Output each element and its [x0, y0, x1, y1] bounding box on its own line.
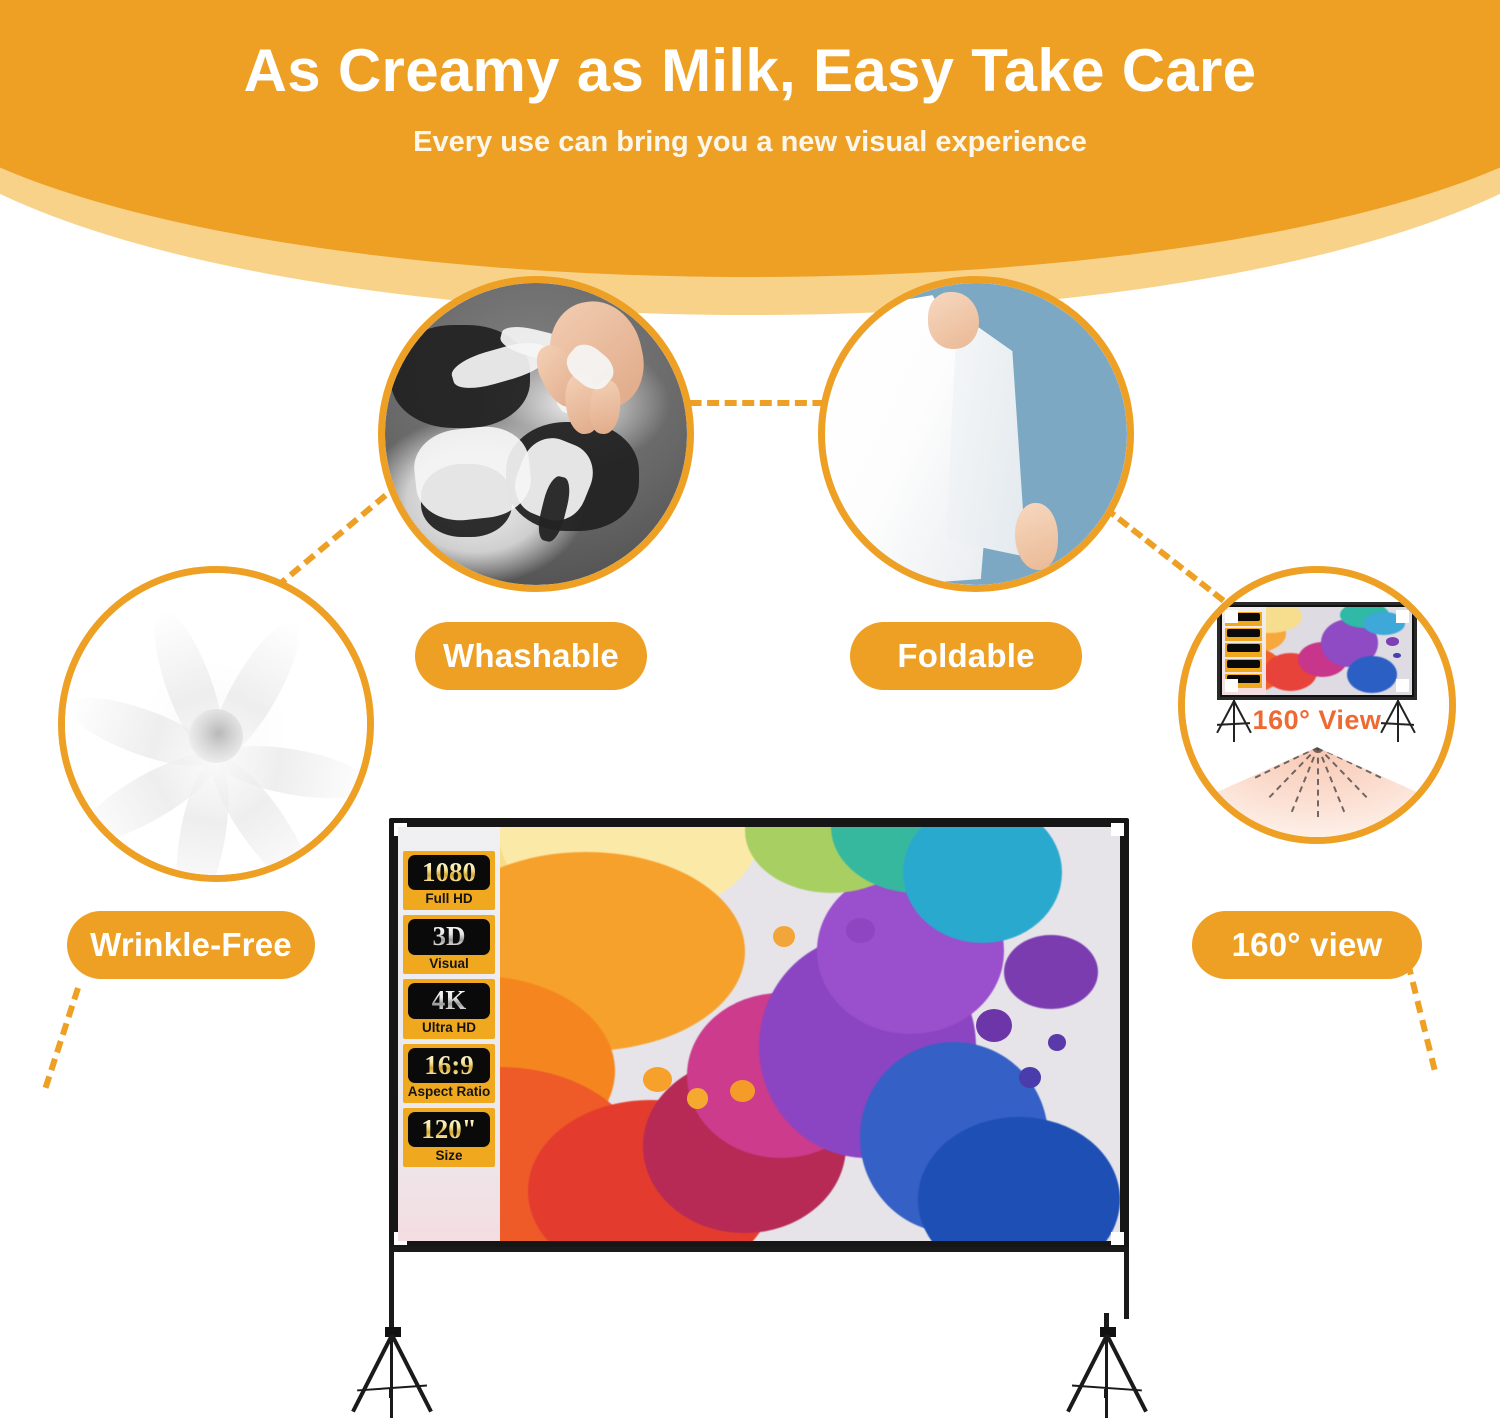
spec-badge: 1080 Full HD: [403, 851, 495, 910]
page-title: As Creamy as Milk, Easy Take Care: [0, 36, 1500, 105]
spec-caption: Full HD: [403, 892, 495, 907]
feature-label-whashable: Whashable: [415, 622, 647, 690]
screen-frame: 1080 Full HD 3D Visual 4K Ultra HD 16:9 …: [389, 818, 1129, 1250]
spec-badge: 4K Ultra HD: [403, 979, 495, 1038]
tripod-right: [1062, 1313, 1172, 1418]
spec-badge: 120" Size: [403, 1108, 495, 1167]
screen-corner-tab: [1111, 1232, 1124, 1245]
spec-caption: Aspect Ratio: [403, 1085, 495, 1100]
infographic-page: As Creamy as Milk, Easy Take Care Every …: [0, 0, 1500, 1421]
feature-label-text: 160° view: [1232, 926, 1383, 964]
stand-top-bar: [389, 1247, 1129, 1252]
spec-caption: Ultra HD: [403, 1021, 495, 1036]
feature-image-view-angle: 160° View: [1178, 566, 1456, 844]
spec-value: 3D: [408, 922, 490, 950]
spec-badge: 3D Visual: [403, 915, 495, 974]
stand-post-left: [389, 1247, 394, 1319]
screen-surface: 1080 Full HD 3D Visual 4K Ultra HD 16:9 …: [398, 827, 1120, 1241]
stand-post-right: [1124, 1247, 1129, 1319]
mini-projector-screen: [1217, 602, 1418, 700]
spec-caption: Visual: [403, 957, 495, 972]
feature-label-text: Foldable: [897, 637, 1034, 675]
feature-image-foldable: [818, 276, 1134, 592]
page-subtitle: Every use can bring you a new visual exp…: [0, 126, 1500, 159]
feature-label-foldable: Foldable: [850, 622, 1082, 690]
tripod-left: [347, 1313, 457, 1418]
spec-value: 4K: [408, 986, 490, 1014]
spec-badge: 16:9 Aspect Ratio: [403, 1044, 495, 1103]
connector-wrinkle-tail: [43, 987, 81, 1089]
spec-value: 16:9: [408, 1051, 490, 1079]
connector-washable-to-foldable: [672, 400, 842, 406]
screen-corner-tab: [1111, 823, 1124, 836]
feature-label-text: Wrinkle-Free: [90, 926, 292, 964]
paint-splash-artwork: [398, 827, 1120, 1241]
view-angle-caption: 160° View: [1185, 705, 1449, 736]
spec-value: 120": [408, 1115, 490, 1143]
feature-label-text: Whashable: [443, 637, 619, 675]
connector-view-tail: [1405, 962, 1437, 1070]
spec-badge-strip: 1080 Full HD 3D Visual 4K Ultra HD 16:9 …: [398, 827, 500, 1241]
spec-value: 1080: [408, 858, 490, 886]
header-banner: As Creamy as Milk, Easy Take Care Every …: [0, 0, 1500, 330]
feature-label-view-angle: 160° view: [1192, 911, 1422, 979]
spec-caption: Size: [403, 1149, 495, 1164]
projector-screen-product: 1080 Full HD 3D Visual 4K Ultra HD 16:9 …: [277, 818, 1147, 1418]
feature-image-whashable: [378, 276, 694, 592]
